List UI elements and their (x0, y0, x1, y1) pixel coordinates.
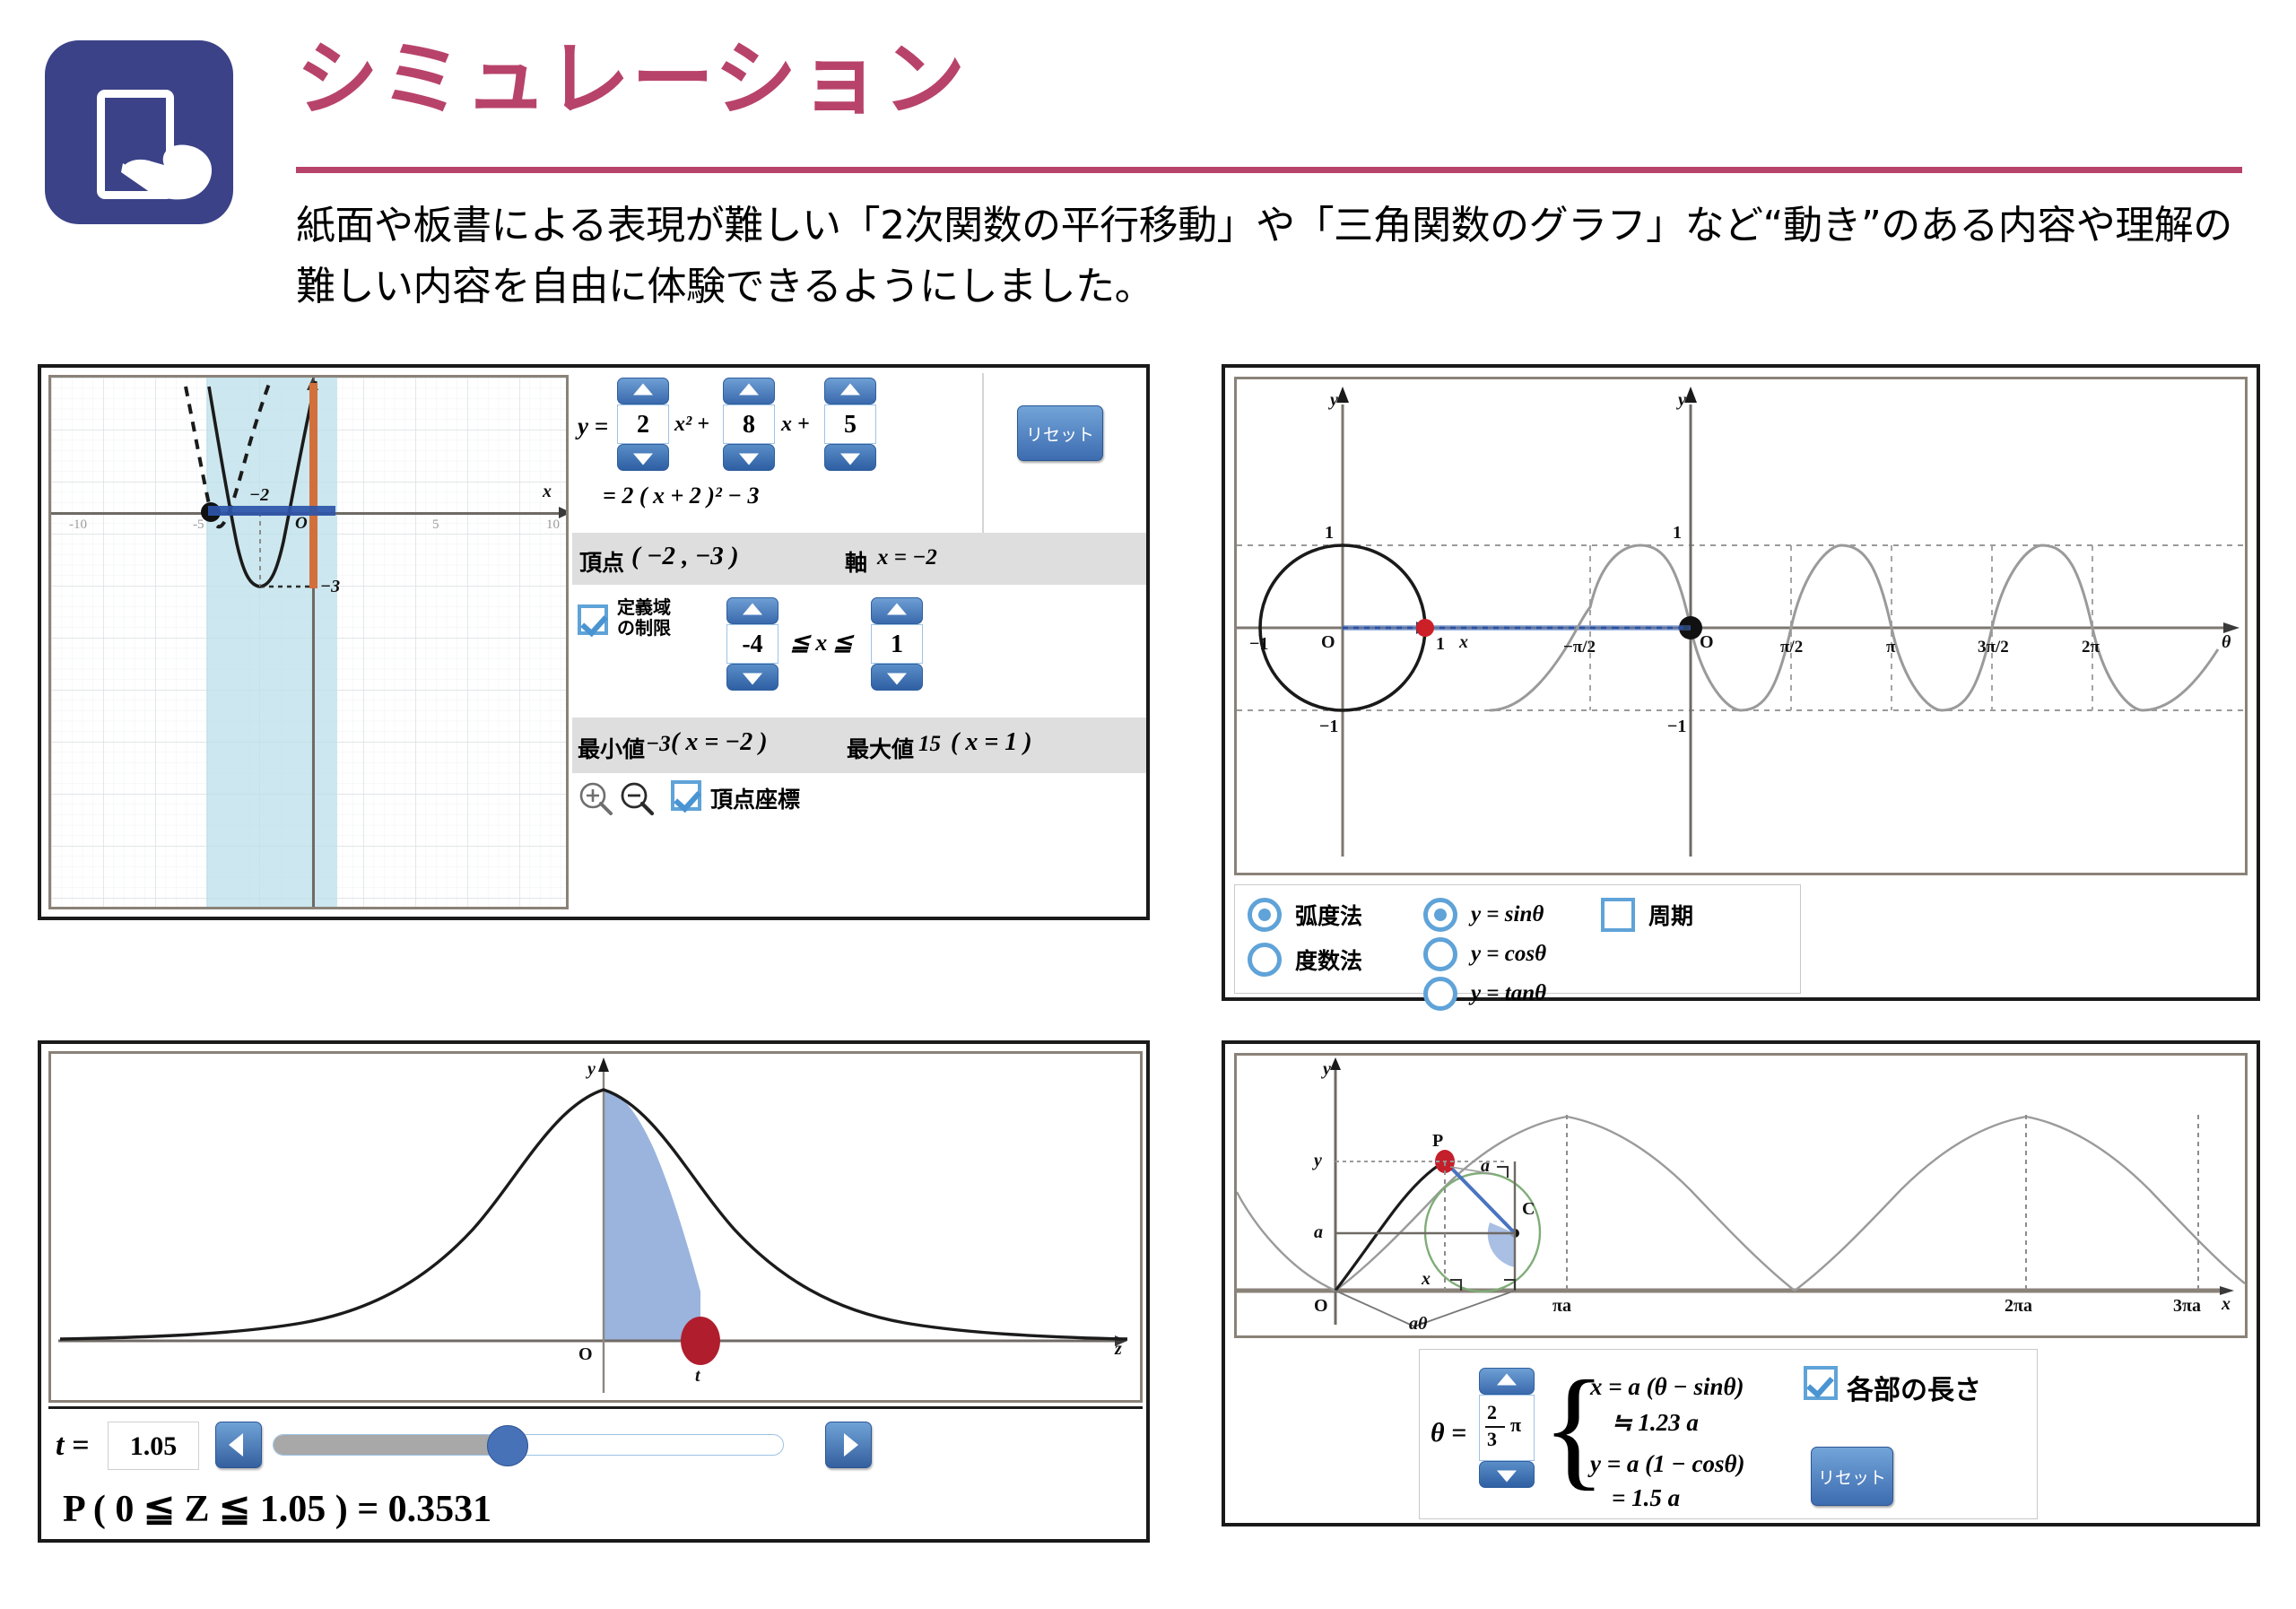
cycloid-eq-y: y = a (1 − cosθ) (1590, 1450, 1744, 1478)
zoom-out-icon[interactable] (619, 780, 655, 816)
vertex-coord-label: 頂点座標 (710, 782, 800, 814)
vertex-label: 頂点 (579, 545, 624, 578)
coef-c-value[interactable]: 5 (824, 404, 876, 444)
cycloid-reset-button[interactable]: リセット (1811, 1447, 1893, 1506)
t-decrement-button[interactable] (215, 1422, 262, 1468)
normal-t-label: t (695, 1366, 700, 1387)
domain-row: 定義域 の制限 -4 ≦ x ≦ 1 (572, 585, 1146, 718)
term-x: x + (781, 413, 810, 437)
wave-tick-1: 1 (1673, 523, 1682, 544)
min-at: ( x = −2 ) (671, 728, 768, 757)
coef-a-up-button[interactable] (617, 378, 669, 404)
cycloid-point-p-label: P (1432, 1131, 1443, 1152)
wave-tick-three-half-pi: 3π/2 (1978, 638, 2009, 657)
vertex-value: ( −2 , −3 ) (631, 542, 739, 571)
lengths-label: 各部の長さ (1847, 1368, 1981, 1407)
cycloid-eq-y-value: = 1.5 a (1612, 1484, 1680, 1512)
page-title: シミュレーション (296, 34, 967, 125)
quadratic-simulator-panel: -10 -5 5 10 O x −2 −3 y = 2 x² + 8 x (38, 364, 1150, 920)
normal-y-axis-label: y (587, 1059, 596, 1080)
option-sin[interactable]: y = sinθ (1423, 898, 1544, 932)
normal-origin-label: O (578, 1344, 593, 1365)
theta-denominator: 3 (1487, 1430, 1497, 1449)
trig-options-panel: 弧度法 度数法 y = sinθ y = cosθ y = tanθ 周期 (1234, 884, 1801, 994)
theta-value[interactable]: 2 3 π (1479, 1395, 1535, 1461)
theta-unit: π (1510, 1415, 1521, 1435)
cycloid-arc-label: aθ (1409, 1314, 1427, 1335)
theta-numerator: 2 (1487, 1403, 1497, 1422)
cycloid-svg (1237, 1056, 2245, 1335)
x-tick--10: -10 (69, 517, 87, 533)
t-increment-button[interactable] (825, 1422, 872, 1468)
normal-z-axis-label: z (1115, 1339, 1122, 1360)
option-tan[interactable]: y = tanθ (1423, 977, 1546, 1011)
option-cos[interactable]: y = cosθ (1423, 937, 1546, 971)
wave-theta-axis-label: θ (2222, 632, 2231, 653)
cycloid-eq-x: x = a (θ − sinθ) (1590, 1373, 1744, 1401)
domain-min-up-button[interactable] (726, 597, 778, 624)
axis-value: x = −2 (877, 545, 937, 570)
x-tick-5: 5 (432, 517, 439, 533)
domain-relation: ≦ x ≦ (790, 630, 853, 657)
coef-c-stepper[interactable]: 5 (824, 378, 876, 471)
cycloid-eq-x-value: ≒ 1.23 a (1612, 1409, 1699, 1437)
reset-button[interactable]: リセット (1017, 405, 1103, 461)
cycloid-tick-pi-a: πa (1552, 1296, 1571, 1317)
option-cos-label: y = cosθ (1471, 942, 1546, 966)
max-label: 最大値 (847, 732, 914, 764)
coef-c-down-button[interactable] (824, 444, 876, 471)
radio-cos[interactable] (1423, 937, 1457, 971)
wave-tick-minus-half-pi: −π/2 (1563, 638, 1596, 657)
cycloid-y-level-label: y (1314, 1151, 1322, 1171)
vertex-x-label: −2 (249, 485, 269, 506)
option-period-label: 周期 (1648, 903, 1693, 929)
domain-min-stepper[interactable]: -4 (726, 597, 778, 691)
circle-origin-label: O (1321, 632, 1335, 653)
coef-b-down-button[interactable] (723, 444, 775, 471)
wave-y-axis-label: y (1678, 390, 1686, 411)
radio-degree[interactable] (1248, 943, 1282, 977)
coef-a-value[interactable]: 2 (617, 404, 669, 444)
min-label: 最小値 (578, 732, 645, 764)
wave-tick-half-pi: π/2 (1780, 638, 1803, 657)
option-degree-label: 度数法 (1295, 948, 1362, 974)
radio-radian[interactable] (1248, 898, 1282, 932)
hand-pointer-shape (121, 133, 215, 203)
normal-controls: t = 1.05 P ( 0 ≦ Z ≦ 1.05 ) = 0.3531 (48, 1406, 1143, 1537)
cycloid-origin-label: O (1314, 1296, 1328, 1317)
circle-y-axis-label: y (1330, 390, 1338, 411)
x-tick--5: -5 (193, 517, 204, 533)
coef-b-stepper[interactable]: 8 (723, 378, 775, 471)
probability-readout: P ( 0 ≦ Z ≦ 1.05 ) = 0.3531 (63, 1486, 491, 1531)
cycloid-x-axis-label: x (2222, 1294, 2231, 1315)
page-description: 紙面や板書による表現が難しい「2次関数の平行移動」や「三角関数のグラフ」など“動… (296, 196, 2251, 317)
circle-tick-minus1-bottom: −1 (1319, 717, 1338, 737)
trig-graph-svg (1237, 379, 2245, 873)
cycloid-controls: θ = 2 3 π { x = a (θ − sinθ) ≒ 1.23 a y … (1419, 1349, 2038, 1519)
cycloid-a-level-label: a (1314, 1222, 1323, 1243)
coef-a-stepper[interactable]: 2 (617, 378, 669, 471)
cycloid-x-level-label: x (1422, 1269, 1431, 1290)
cycloid-tick-2pi-a: 2πa (2005, 1296, 2032, 1317)
coef-b-value[interactable]: 8 (723, 404, 775, 444)
option-tan-label: y = tanθ (1471, 981, 1546, 1005)
quadratic-graph[interactable]: -10 -5 5 10 O x −2 −3 (48, 375, 569, 909)
graph-toolbar: 頂点座標 (572, 773, 1146, 823)
radio-tan[interactable] (1423, 977, 1457, 1011)
radio-sin[interactable] (1423, 898, 1457, 932)
cycloid-graph[interactable]: y O P C a a y x aθ πa 2πa 3πa x (1234, 1053, 2248, 1338)
axis-label: 軸 (845, 545, 867, 578)
equation-prefix: y = (578, 413, 608, 440)
circle-x-axis-label: x (1459, 632, 1468, 653)
wave-tick-two-pi: 2π (2082, 638, 2100, 657)
title-underline (296, 167, 2242, 173)
t-value-field[interactable]: 1.05 (108, 1422, 199, 1470)
page-header: シミュレーション 紙面や板書による表現が難しい「2次関数の平行移動」や「三角関数… (0, 0, 2296, 341)
theta-up-button[interactable] (1479, 1368, 1535, 1395)
t-prefix-label: t = (56, 1429, 89, 1463)
trig-simulator-panel: y 1 −1 −1 1 O x y 1 −1 O θ −π/2 π/2 π 3π… (1222, 364, 2260, 1001)
max-at: ( x = 1 ) (951, 728, 1032, 757)
wave-tick-minus1: −1 (1667, 717, 1686, 737)
theta-prefix-label: θ = (1431, 1418, 1466, 1448)
wave-tick-pi: π (1886, 638, 1895, 657)
coef-c-up-button[interactable] (824, 378, 876, 404)
checkbox-period[interactable] (1601, 898, 1635, 932)
option-sin-label: y = sinθ (1471, 902, 1544, 926)
trig-graph[interactable]: y 1 −1 −1 1 O x y 1 −1 O θ −π/2 π/2 π 3π… (1234, 377, 2248, 875)
cycloid-radius-label: a (1481, 1156, 1490, 1177)
vertex-row: 頂点 ( −2 , −3 ) 軸 x = −2 (572, 533, 1146, 585)
lengths-checkbox[interactable] (1804, 1366, 1838, 1400)
cycloid-simulator-panel: y O P C a a y x aθ πa 2πa 3πa x θ = 2 3 … (1222, 1040, 2260, 1526)
circle-tick-1-top: 1 (1325, 523, 1334, 544)
vertex-coord-checkbox[interactable] (671, 780, 701, 811)
wave-origin-label: O (1700, 632, 1714, 653)
tablet-tap-icon (45, 40, 233, 224)
domain-max-value[interactable]: 1 (871, 624, 923, 664)
domain-max-stepper[interactable]: 1 (871, 597, 923, 691)
coef-a-down-button[interactable] (617, 444, 669, 471)
domain-max-down-button[interactable] (871, 664, 923, 691)
theta-stepper[interactable]: 2 3 π (1479, 1368, 1535, 1488)
x-axis-label: x (543, 482, 552, 502)
domain-restriction-label: 定義域 の制限 (617, 597, 671, 639)
t-slider-track[interactable] (273, 1434, 784, 1456)
normal-distribution-panel: y O t z t = 1.05 P ( 0 ≦ Z ≦ 1.05 ) = 0.… (38, 1040, 1150, 1543)
equation-row: y = 2 x² + 8 x + 5 = 2 ( x + 2 )² − 3 リセ… (572, 373, 1146, 533)
normal-curve-svg (51, 1054, 1140, 1400)
cycloid-tick-3pi-a: 3πa (2173, 1296, 2201, 1317)
domain-min-value[interactable]: -4 (726, 624, 778, 664)
zoom-in-icon[interactable] (578, 780, 613, 816)
domain-restriction-checkbox[interactable] (578, 604, 608, 635)
option-period[interactable]: 周期 (1601, 898, 1693, 932)
origin-label: O (295, 514, 308, 534)
cycloid-center-c-label: C (1522, 1199, 1535, 1220)
circle-tick-minus1-left: −1 (1249, 634, 1268, 655)
theta-down-button[interactable] (1479, 1461, 1535, 1488)
circle-tick-1-right: 1 (1436, 634, 1445, 655)
vertex-form-expression: = 2 ( x + 2 )² − 3 (603, 483, 760, 509)
coef-b-up-button[interactable] (723, 378, 775, 404)
controls-divider (982, 373, 984, 533)
x-tick-10: 10 (546, 517, 560, 533)
t-slider-fill (274, 1435, 508, 1455)
min-value: −3 (646, 732, 671, 757)
quadratic-curve-layer (51, 378, 569, 909)
option-degree[interactable]: 度数法 (1248, 943, 1362, 977)
term-x-squared: x² + (674, 413, 709, 437)
option-radian[interactable]: 弧度法 (1248, 898, 1362, 932)
option-radian-label: 弧度法 (1295, 903, 1362, 929)
quadratic-controls: y = 2 x² + 8 x + 5 = 2 ( x + 2 )² − 3 リセ… (572, 373, 1146, 913)
domain-max-up-button[interactable] (871, 597, 923, 624)
max-value: 15 (918, 732, 941, 757)
t-slider-thumb[interactable] (487, 1425, 528, 1466)
domain-min-down-button[interactable] (726, 664, 778, 691)
minmax-row: 最小値 −3 ( x = −2 ) 最大値 15 ( x = 1 ) (572, 718, 1146, 773)
vertex-y-label: −3 (320, 577, 340, 597)
cycloid-y-axis-label: y (1323, 1059, 1331, 1080)
normal-distribution-graph[interactable]: y O t z (48, 1051, 1143, 1403)
